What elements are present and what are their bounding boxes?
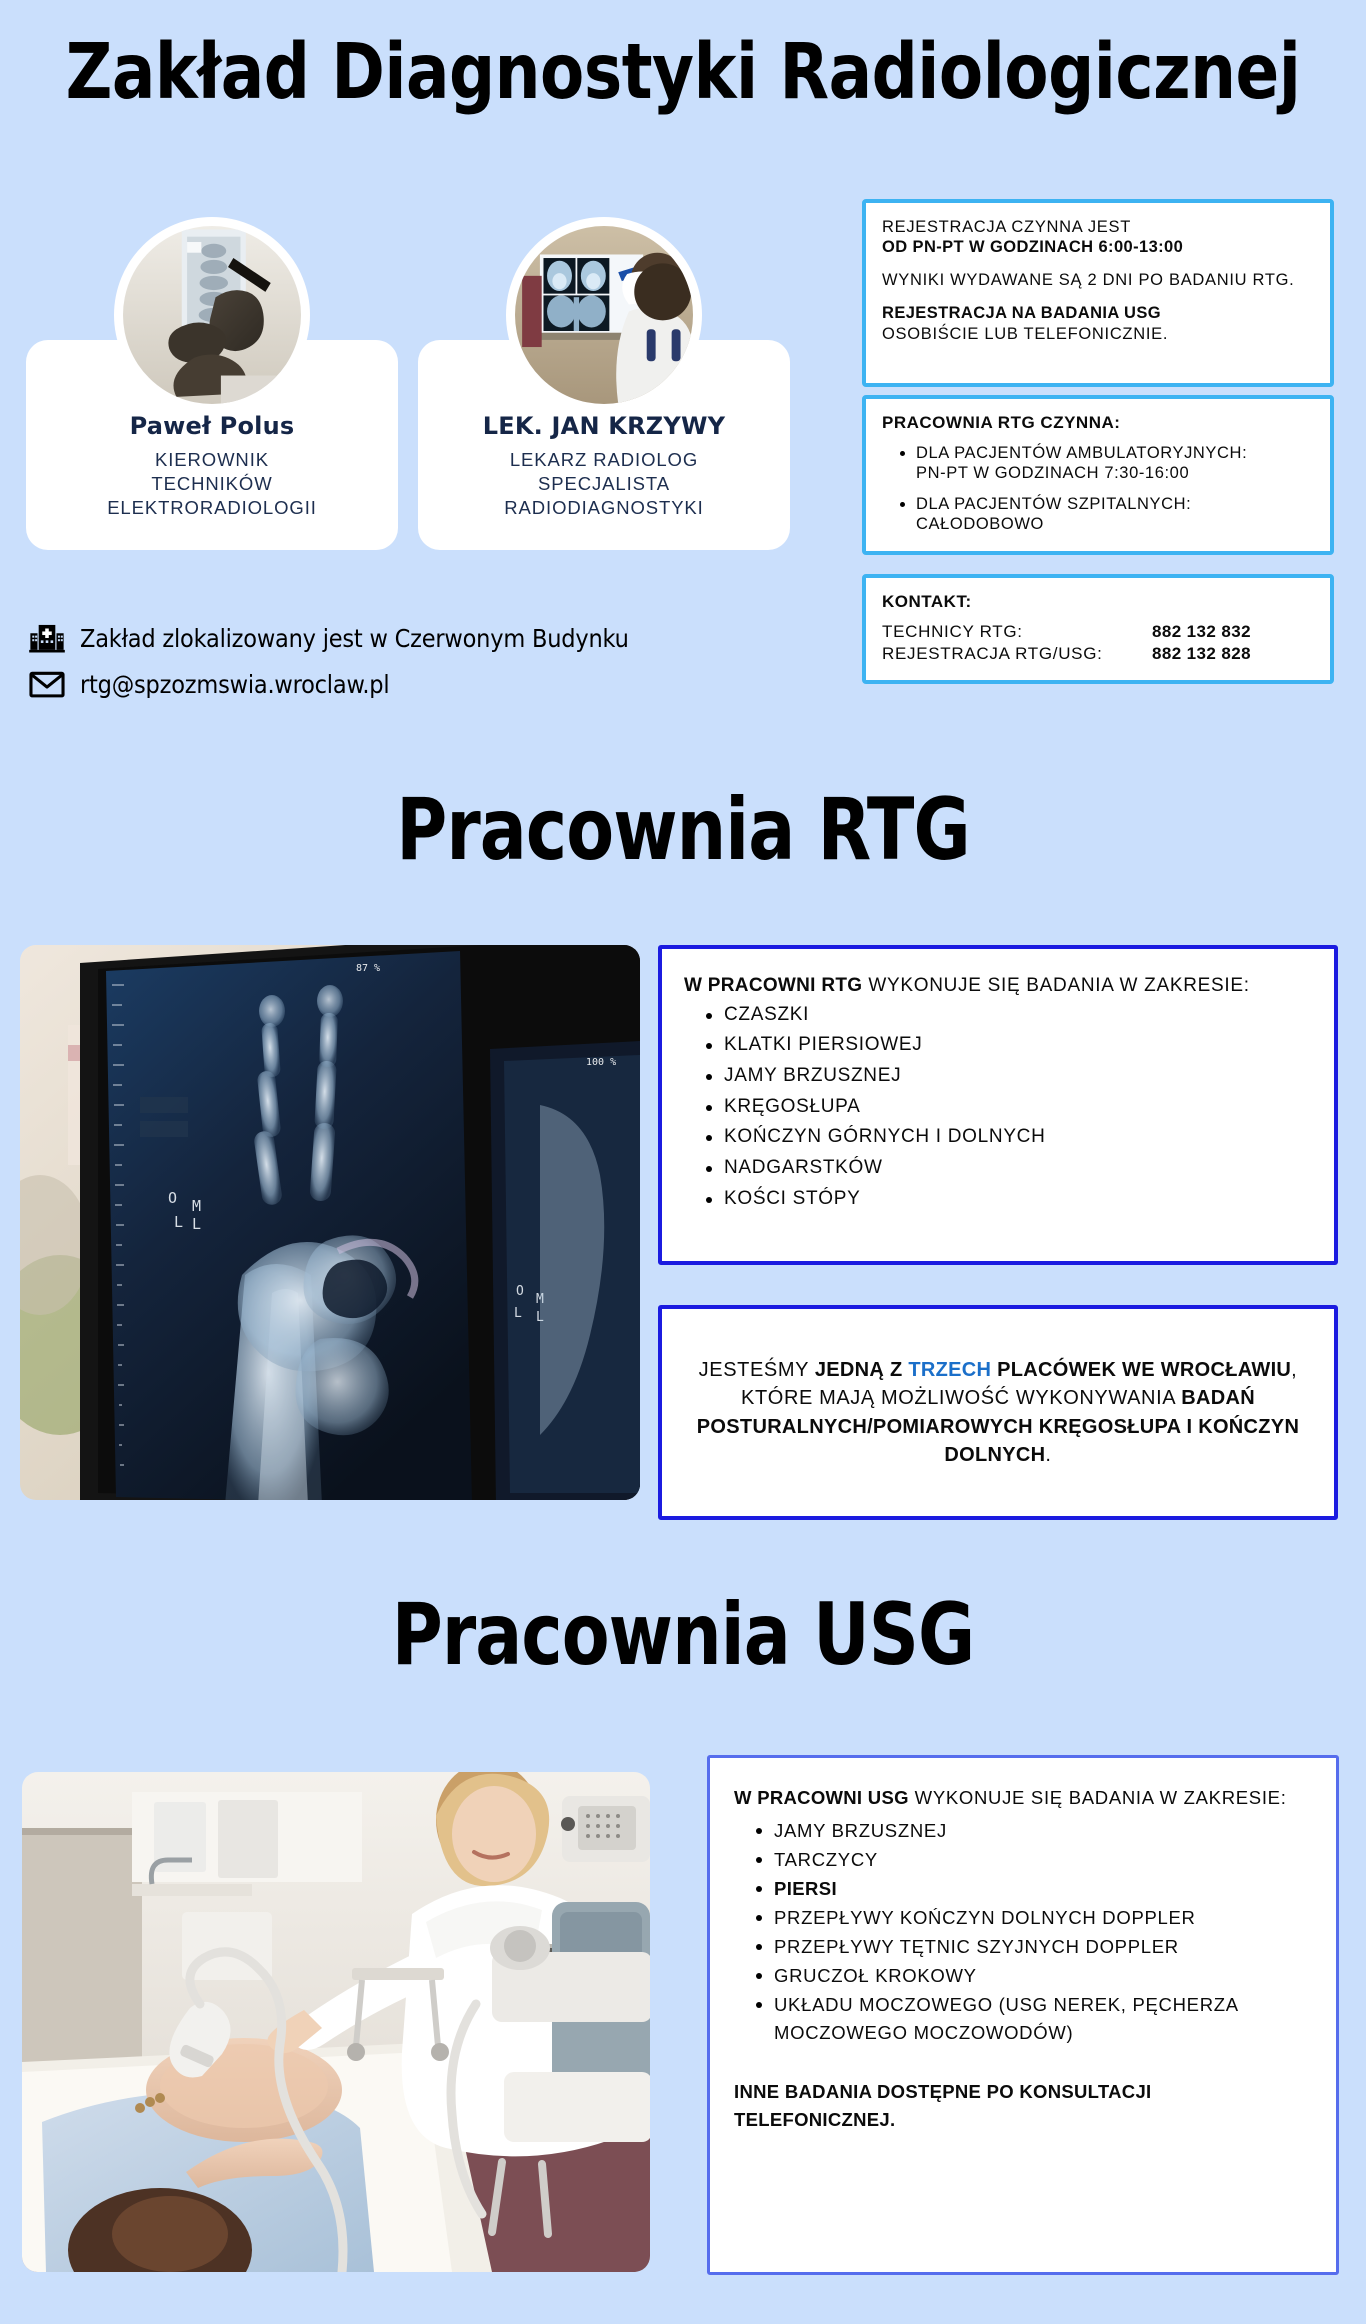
usg-exam-list-box: W PRACOWNI USG WYKONUJE SIĘ BADANIA W ZA… xyxy=(707,1755,1339,2275)
list-item: TARCZYCY xyxy=(754,1846,1312,1874)
list-item: DLA PACJENTÓW SZPITALNYCH: CAŁODOBOWO xyxy=(900,494,1314,534)
note-bold-2: PLACÓWEK WE WROCŁAWIU xyxy=(991,1359,1291,1381)
kontakt-phone[interactable]: 882 132 832 xyxy=(1152,622,1251,642)
section-heading-rtg: Pracownia RTG xyxy=(68,780,1297,880)
note-part-3: . xyxy=(1045,1444,1051,1466)
page-title: Zakład Diagnostyki Radiologicznej xyxy=(48,28,1318,117)
usg-list-intro-bold: W PRACOWNI USG xyxy=(734,1787,909,1808)
svg-text:100 %: 100 % xyxy=(586,1057,616,1068)
kontakt-box: KONTAKT: TECHNICY RTG: 882 132 832 REJES… xyxy=(862,574,1334,684)
staff-name: LEK. JAN KRZYWY xyxy=(483,412,725,440)
avatar xyxy=(506,217,702,413)
kontakt-label: REJESTRACJA RTG/USG: xyxy=(882,644,1152,664)
staff-card-1: Paweł Polus KIEROWNIK TECHNIKÓW ELEKTROR… xyxy=(26,340,398,550)
staff-cards-row: Paweł Polus KIEROWNIK TECHNIKÓW ELEKTROR… xyxy=(26,340,790,550)
usg-footer-note: INNE BADANIA DOSTĘPNE PO KONSULTACJI TEL… xyxy=(734,2078,1312,2135)
usg-exam-list: JAMY BRZUSZNEJ TARCZYCY PIERSI PRZEPŁYWY… xyxy=(754,1817,1312,2048)
rtg-hours-heading: PRACOWNIA RTG CZYNNA: xyxy=(882,413,1314,433)
email-text: rtg@spzozmswia.wroclaw.pl xyxy=(80,670,389,699)
staff-role: KIEROWNIK TECHNIKÓW ELEKTRORADIOLOGII xyxy=(107,448,317,520)
results-line: WYNIKI WYDAWANE SĄ 2 DNI PO BADANIU RTG. xyxy=(882,270,1314,290)
svg-text:O: O xyxy=(516,1284,524,1299)
envelope-icon xyxy=(28,665,66,703)
rtg-note-box: JESTEŚMY JEDNĄ Z TRZECH PLACÓWEK WE WROC… xyxy=(658,1305,1338,1520)
registration-info-box: REJESTRACJA CZYNNA JEST OD PN-PT W GODZI… xyxy=(862,199,1334,387)
rtg-list-intro-bold: W PRACOWNI RTG xyxy=(684,975,862,996)
table-row: REJESTRACJA RTG/USG: 882 132 828 xyxy=(882,644,1314,664)
staff-name: Paweł Polus xyxy=(130,412,295,440)
list-item: PRZEPŁYWY TĘTNIC SZYJNYCH DOPPLER xyxy=(754,1933,1312,1961)
avatar xyxy=(114,217,310,413)
location-text: Zakład zlokalizowany jest w Czerwonym Bu… xyxy=(80,624,629,653)
registration-hours: OD PN-PT W GODZINACH 6:00-13:00 xyxy=(882,237,1314,257)
list-item: UKŁADU MOCZOWEGO (USG NEREK, PĘCHERZA MO… xyxy=(754,1991,1312,2047)
ultrasound-exam-photo xyxy=(22,1772,650,2272)
xray-spine-photo xyxy=(123,226,301,404)
list-item: JAMY BRZUSZNEJ xyxy=(704,1064,1312,1089)
location-line: Zakład zlokalizowany jest w Czerwonym Bu… xyxy=(28,615,629,661)
rtg-hours-list: DLA PACJENTÓW AMBULATORYJNYCH: PN-PT W G… xyxy=(900,443,1314,535)
rtg-exam-list: CZASZKI KLATKI PIERSIOWEJ JAMY BRZUSZNEJ… xyxy=(704,1003,1312,1212)
list-item: KRĘGOSŁUPA xyxy=(704,1095,1312,1120)
email-line[interactable]: rtg@spzozmswia.wroclaw.pl xyxy=(28,661,629,707)
hand-xray-monitor-photo: OL ML OL ML 87 % 100 % xyxy=(20,945,640,1500)
contact-lines: Zakład zlokalizowany jest w Czerwonym Bu… xyxy=(28,615,629,707)
infographic-page: Zakład Diagnostyki Radiologicznej xyxy=(0,0,1366,2324)
svg-text:M: M xyxy=(192,1197,201,1215)
table-row: TECHNICY RTG: 882 132 832 xyxy=(882,622,1314,642)
radiologist-lightbox-photo xyxy=(515,226,693,404)
list-item: KOŚCI STÓPY xyxy=(704,1187,1312,1212)
rtg-list-intro: W PRACOWNI RTG WYKONUJE SIĘ BADANIA W ZA… xyxy=(684,973,1312,999)
section-heading-usg: Pracownia USG xyxy=(68,1585,1297,1685)
staff-role: LEKARZ RADIOLOG SPECJALISTA RADIODIAGNOS… xyxy=(504,448,703,520)
kontakt-phone[interactable]: 882 132 828 xyxy=(1152,644,1251,664)
svg-text:L: L xyxy=(514,1306,522,1321)
registration-line-1: REJESTRACJA CZYNNA JEST xyxy=(882,217,1314,237)
note-highlight: TRZECH xyxy=(908,1359,991,1381)
rtg-note-text: JESTEŚMY JEDNĄ Z TRZECH PLACÓWEK WE WROC… xyxy=(688,1356,1308,1470)
staff-card-2: LEK. JAN KRZYWY LEKARZ RADIOLOG SPECJALI… xyxy=(418,340,790,550)
rtg-exam-list-box: W PRACOWNI RTG WYKONUJE SIĘ BADANIA W ZA… xyxy=(658,945,1338,1265)
svg-text:O: O xyxy=(168,1189,177,1207)
usg-registration-title: REJESTRACJA NA BADANIA USG xyxy=(882,303,1314,323)
list-item: NADGARSTKÓW xyxy=(704,1156,1312,1181)
list-item: DLA PACJENTÓW AMBULATORYJNYCH: PN-PT W G… xyxy=(900,443,1314,483)
list-item: CZASZKI xyxy=(704,1003,1312,1028)
usg-list-intro: W PRACOWNI USG WYKONUJE SIĘ BADANIA W ZA… xyxy=(734,1784,1312,1813)
note-part-1: JESTEŚMY xyxy=(699,1359,815,1381)
usg-list-intro-rest: WYKONUJE SIĘ BADANIA W ZAKRESIE: xyxy=(909,1787,1287,1808)
list-item: PRZEPŁYWY KOŃCZYN DOLNYCH DOPPLER xyxy=(754,1904,1312,1932)
kontakt-label: TECHNICY RTG: xyxy=(882,622,1152,642)
list-item: JAMY BRZUSZNEJ xyxy=(754,1817,1312,1845)
list-item: KOŃCZYN GÓRNYCH I DOLNYCH xyxy=(704,1125,1312,1150)
kontakt-heading: KONTAKT: xyxy=(882,592,1314,612)
list-item: PIERSI xyxy=(754,1875,1312,1903)
svg-text:L: L xyxy=(192,1215,201,1233)
list-item: KLATKI PIERSIOWEJ xyxy=(704,1033,1312,1058)
rtg-hours-box: PRACOWNIA RTG CZYNNA: DLA PACJENTÓW AMBU… xyxy=(862,395,1334,555)
svg-text:87 %: 87 % xyxy=(356,963,380,974)
note-bold-1: JEDNĄ Z xyxy=(815,1359,909,1381)
usg-registration-how: OSOBIŚCIE LUB TELEFONICZNIE. xyxy=(882,324,1314,344)
hospital-icon xyxy=(28,619,66,657)
list-item: GRUCZOŁ KROKOWY xyxy=(754,1962,1312,1990)
rtg-list-intro-rest: WYKONUJE SIĘ BADANIA W ZAKRESIE: xyxy=(862,975,1249,996)
svg-text:L: L xyxy=(174,1213,183,1231)
